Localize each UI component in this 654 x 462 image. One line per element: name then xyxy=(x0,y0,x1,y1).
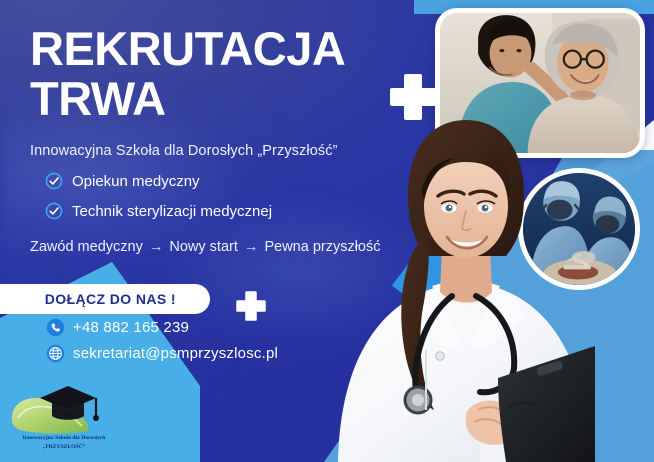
phone-icon xyxy=(46,318,65,337)
tagline-part-2: Nowy start xyxy=(169,239,238,255)
logo-caption-line-1: Innowacyjna Szkoła dla Dorosłych xyxy=(23,435,106,441)
email-address: sekretariat@psmprzyszlosc.pl xyxy=(73,345,278,362)
list-item: Opiekun medyczny xyxy=(45,172,272,190)
check-circle-icon xyxy=(45,202,63,220)
globe-icon xyxy=(46,344,65,363)
recruitment-poster: REKRUTACJA TRWA Innowacyjna Szkoła dla D… xyxy=(0,0,654,462)
contact-phone[interactable]: +48 882 165 239 xyxy=(46,318,278,337)
contact-info: +48 882 165 239 sekretariat@psmprzyszlos… xyxy=(46,318,278,370)
phone-number: +48 882 165 239 xyxy=(73,319,189,336)
page-title: REKRUTACJA TRWA xyxy=(30,24,345,124)
logo-caption: Innowacyjna Szkoła dla Dorosłych „PRZYSZ… xyxy=(0,434,128,452)
school-name-subtitle: Innowacyjna Szkoła dla Dorosłych „Przysz… xyxy=(30,143,338,159)
arrow-icon: → xyxy=(147,239,166,255)
photo-nurse-with-clipboard xyxy=(330,110,595,462)
course-list: Opiekun medyczny Technik sterylizacji me… xyxy=(45,172,272,232)
contact-email[interactable]: sekretariat@psmprzyszlosc.pl xyxy=(46,344,278,363)
list-item: Technik sterylizacji medycznej xyxy=(45,202,272,220)
tagline: Zawód medyczny → Nowy start → Pewna przy… xyxy=(30,239,381,255)
check-circle-icon xyxy=(45,172,63,190)
logo-caption-line-2: „PRZYSZŁOŚĆ” xyxy=(0,443,128,452)
tagline-part-1: Zawód medyczny xyxy=(30,239,143,255)
course-label: Opiekun medyczny xyxy=(72,173,200,190)
headline-line-1: REKRUTACJA xyxy=(30,22,345,75)
tagline-part-3: Pewna przyszłość xyxy=(264,239,380,255)
course-label: Technik sterylizacji medycznej xyxy=(72,203,272,220)
arrow-icon: → xyxy=(242,239,261,255)
join-us-label: DOŁĄCZ DO NAS ! xyxy=(45,291,176,307)
graduation-cap-hand-logo xyxy=(6,378,126,436)
medical-cross-large xyxy=(388,72,438,122)
headline-line-2: TRWA xyxy=(30,74,345,124)
join-us-button[interactable]: DOŁĄCZ DO NAS ! xyxy=(0,284,210,314)
